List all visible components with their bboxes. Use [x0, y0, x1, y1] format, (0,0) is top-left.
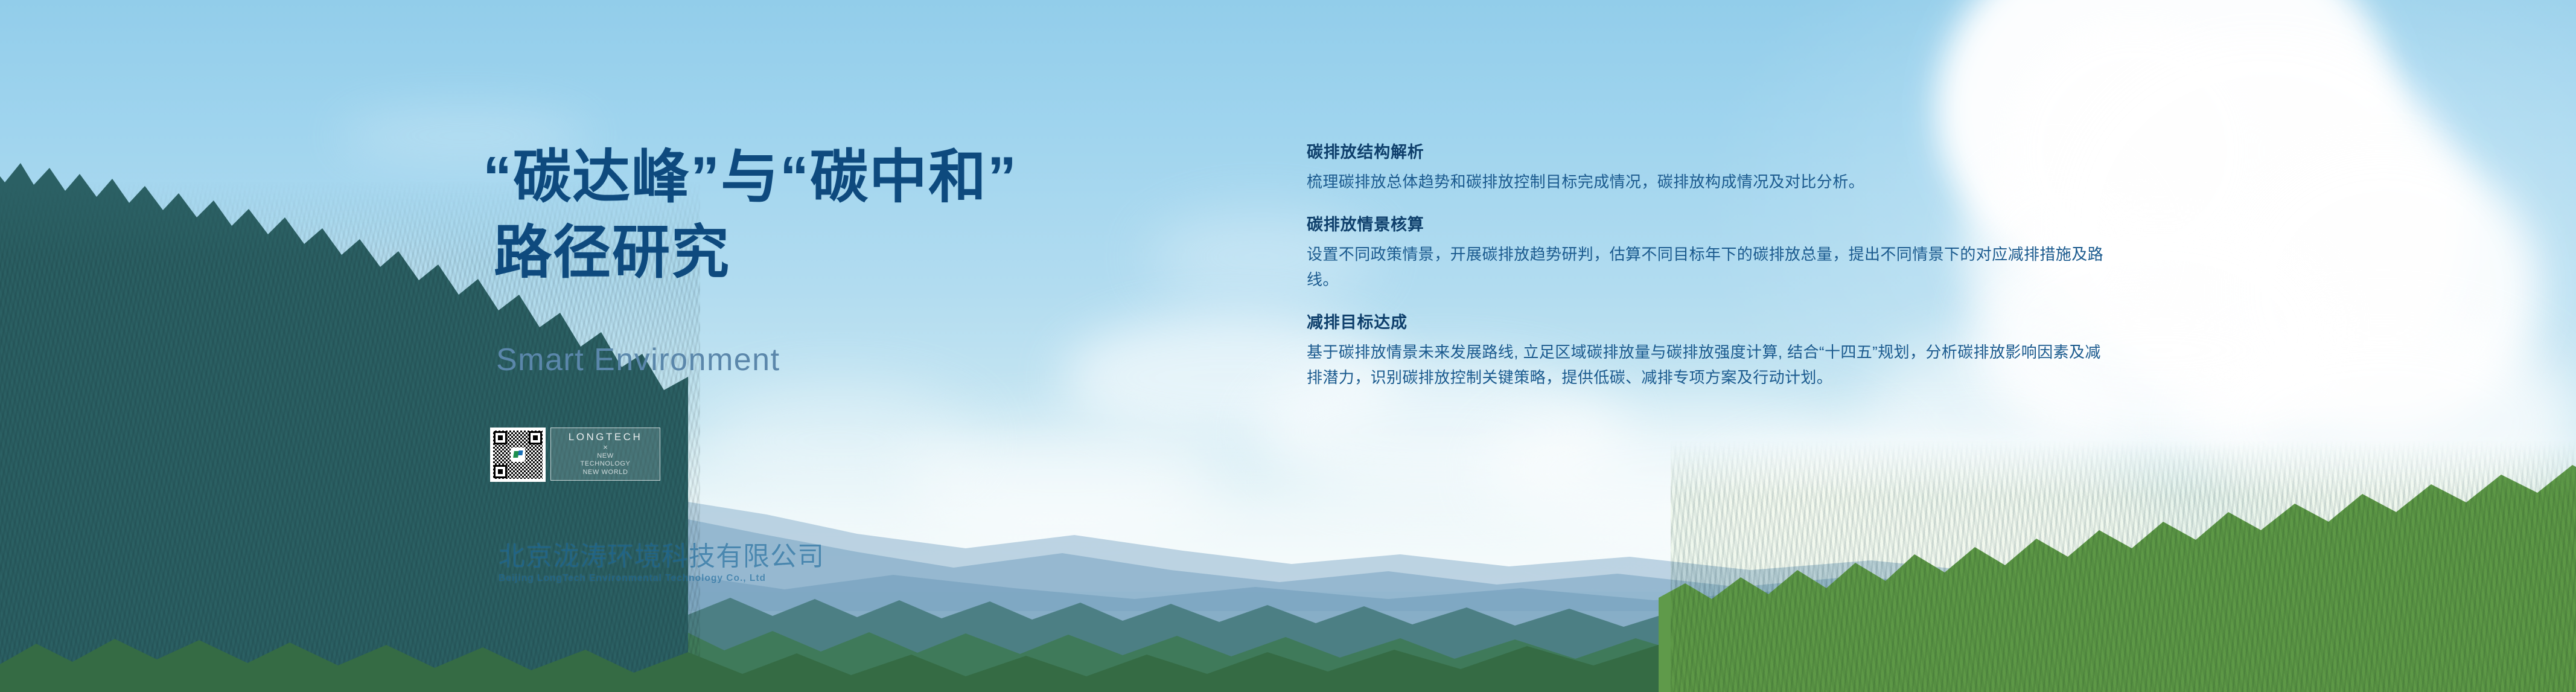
qr-code[interactable]: [490, 428, 546, 482]
company-watermark: 北京泷涛环境科技有限公司 Beijing LongTech Environmen…: [499, 543, 824, 583]
banner-hero: “碳达峰”与“碳中和” 路径研究 Smart Environment LONGT…: [0, 0, 2576, 692]
feature-body: 梳理碳排放总体趋势和碳排放控制目标完成情况，碳排放构成情况及对比分析。: [1307, 169, 2115, 194]
feature-heading: 碳排放结构解析: [1307, 143, 2115, 163]
feature-heading: 碳排放情景核算: [1307, 215, 2115, 235]
qr-finder-icon: [494, 465, 507, 478]
feature-section: 碳排放结构解析 梳理碳排放总体趋势和碳排放控制目标完成情况，碳排放构成情况及对比…: [1307, 143, 2115, 194]
company-name-cn: 北京泷涛环境科技有限公司: [499, 543, 824, 570]
forest-right-texture: [1671, 441, 2576, 692]
logo-mark: [514, 450, 523, 459]
page-title-line-2: 路径研究: [483, 216, 1018, 291]
logo-shape-blue: [518, 450, 523, 455]
feature-heading: 减排目标达成: [1307, 313, 2115, 333]
page-tagline: Smart Environment: [496, 342, 780, 378]
longtech-panel: LONGTECH × NEW TECHNOLOGY NEW WORLD: [550, 428, 660, 481]
company-name-en: Beijing LongTech Environmental Technolog…: [499, 574, 824, 583]
longtech-cross-icon: ×: [603, 443, 608, 451]
feature-body: 基于碳排放情景未来发展路线, 立足区域碳排放量与碳排放强度计算, 结合“十四五”…: [1307, 339, 2115, 390]
feature-body: 设置不同政策情景，开展碳排放趋势研判，估算不同目标年下的碳排放总量，提出不同情景…: [1307, 242, 2115, 292]
longtech-brand-subtitle: NEW TECHNOLOGY NEW WORLD: [580, 452, 630, 476]
longtech-brand-title: LONGTECH: [569, 432, 642, 442]
feature-sections: 碳排放结构解析 梳理碳排放总体趋势和碳排放控制目标完成情况，碳排放构成情况及对比…: [1307, 143, 2115, 390]
page-title: “碳达峰”与“碳中和” 路径研究: [483, 140, 1018, 291]
feature-section: 减排目标达成 基于碳排放情景未来发展路线, 立足区域碳排放量与碳排放强度计算, …: [1307, 313, 2115, 390]
page-title-line-1: “碳达峰”与“碳中和”: [483, 145, 1018, 210]
company-logo-icon: [511, 447, 525, 462]
qr-code-matrix: [493, 431, 543, 479]
feature-section: 碳排放情景核算 设置不同政策情景，开展碳排放趋势研判，估算不同目标年下的碳排放总…: [1307, 215, 2115, 292]
